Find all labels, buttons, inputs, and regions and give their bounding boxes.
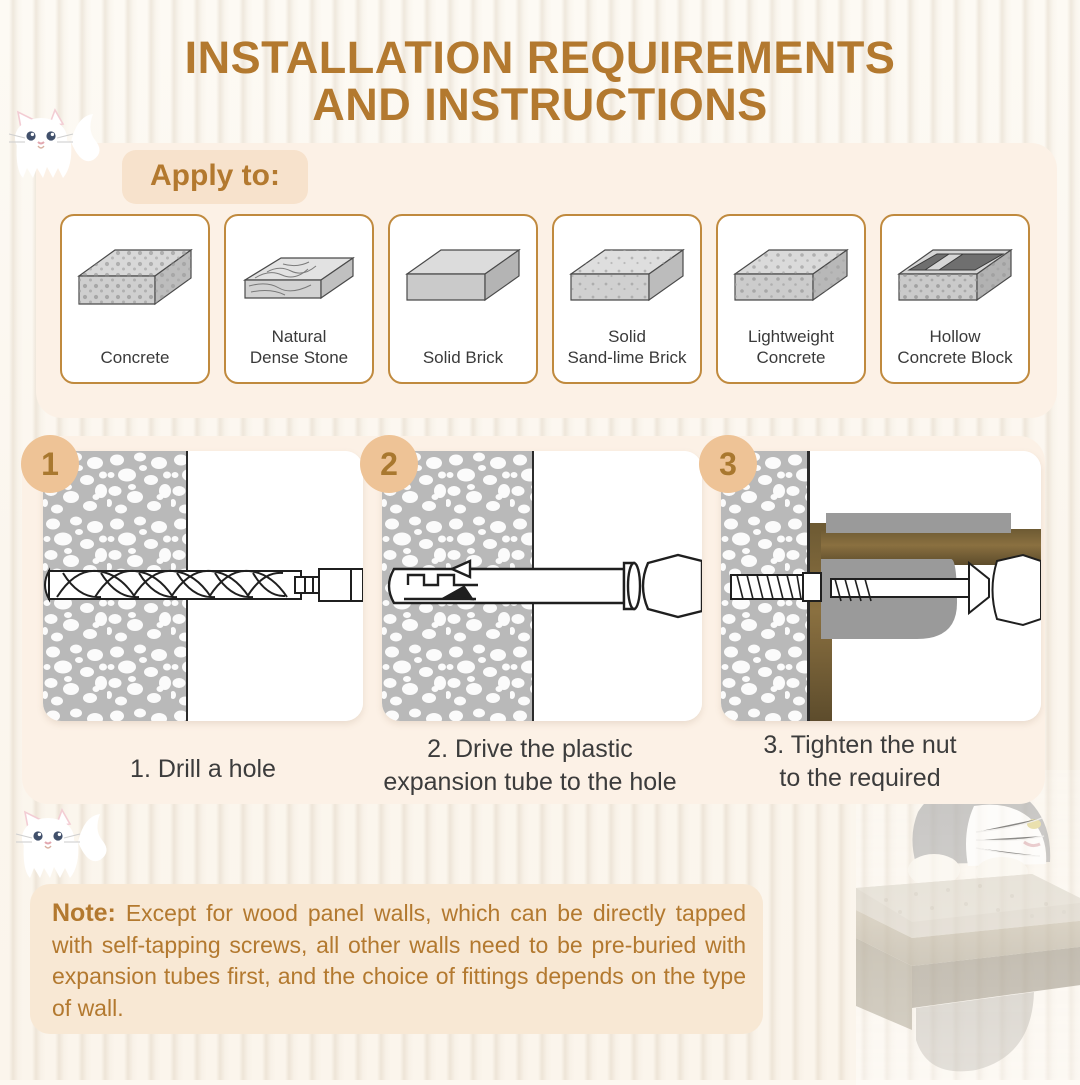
material-card-caption: Hollow Concrete Block [882, 326, 1028, 382]
step-3-badge: 3 [699, 435, 757, 493]
page-title-line2: AND INSTRUCTIONS [0, 81, 1080, 128]
step-1-badge: 1 [21, 435, 79, 493]
lightweight-concrete-icon [727, 228, 855, 320]
apply-to-label: Apply to: [122, 150, 308, 204]
note-text: Note: Except for wood panel walls, which… [52, 898, 746, 1024]
page-title-line1: INSTALLATION REQUIREMENTS [0, 34, 1080, 81]
step-3: 3 [721, 451, 1041, 721]
step-3-illustration [721, 451, 1041, 721]
step-1: 1 [43, 451, 363, 721]
step-3-caption: 3. Tighten the nut to the required [690, 729, 1030, 795]
material-card-lightweight-concrete[interactable]: Lightweight Concrete [716, 214, 866, 384]
hollow-block-icon [891, 228, 1019, 320]
step-2-illustration [382, 451, 702, 721]
material-card-concrete[interactable]: Concrete [60, 214, 210, 384]
material-card-caption: Concrete [62, 347, 208, 382]
step-1-caption: 1. Drill a hole [33, 753, 373, 786]
step-2-caption: 2. Drive the plastic expansion tube to t… [360, 733, 700, 799]
page-title: INSTALLATION REQUIREMENTS AND INSTRUCTIO… [0, 34, 1080, 128]
material-card-caption: Solid Brick [390, 347, 536, 382]
material-card-hollow-concrete-block[interactable]: Hollow Concrete Block [880, 214, 1030, 384]
solid-brick-icon [399, 228, 527, 320]
material-card-sand-lime-brick[interactable]: Solid Sand-lime Brick [552, 214, 702, 384]
step-1-illustration [43, 451, 363, 721]
concrete-block-icon [71, 228, 199, 320]
step-2: 2 [382, 451, 702, 721]
material-card-natural-dense-stone[interactable]: Natural Dense Stone [224, 214, 374, 384]
cat-illustration-bottom [12, 808, 130, 898]
note-label: Note: [52, 899, 116, 927]
sand-lime-brick-icon [563, 228, 691, 320]
natural-stone-icon [235, 228, 363, 320]
cat-on-wall-shelf-photo [856, 770, 1080, 1085]
material-card-solid-brick[interactable]: Solid Brick [388, 214, 538, 384]
step-2-badge: 2 [360, 435, 418, 493]
material-card-caption: Lightweight Concrete [718, 326, 864, 382]
material-card-list: Concrete Natural Dense Stone [60, 214, 1030, 384]
note-body: Except for wood panel walls, which can b… [52, 900, 746, 1021]
cat-illustration-top [5, 108, 123, 198]
material-card-caption: Solid Sand-lime Brick [554, 326, 700, 382]
material-card-caption: Natural Dense Stone [226, 326, 372, 382]
